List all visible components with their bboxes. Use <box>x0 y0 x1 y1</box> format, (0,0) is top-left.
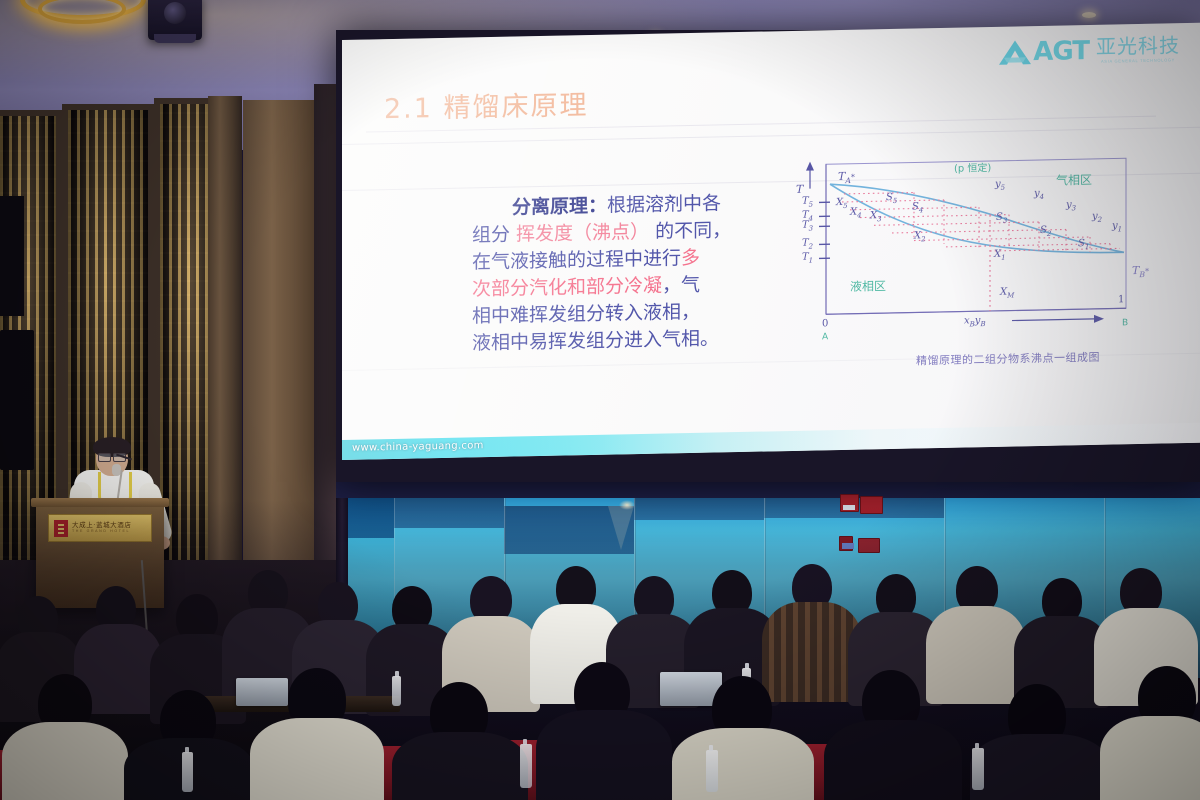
point-XM: XM <box>1000 287 1014 300</box>
audience-torso <box>392 732 528 800</box>
agt-wordmark: AGT <box>1033 38 1089 65</box>
audience-torso <box>1100 716 1200 800</box>
audience-torso <box>250 718 384 800</box>
body-line2a: 组分 <box>472 224 516 247</box>
laptop <box>236 678 288 706</box>
body-line1: 根据溶剂中各 <box>607 192 721 216</box>
audience-torso <box>672 728 814 800</box>
label-TB-star: TB* <box>1132 264 1149 280</box>
point-y2: y2 <box>1092 211 1102 224</box>
phase-diagram: T T5 T4 T3 T2 T1 TA* TB* (p 恒定) 气相区 液相区 … <box>794 151 1176 377</box>
body-line3-highlight: 多 <box>681 247 700 269</box>
x-endpoint-B: B <box>1122 318 1128 328</box>
point-S4: S4 <box>912 201 923 214</box>
footer-url: www.china-yaguang.com <box>352 440 484 454</box>
point-X2: X2 <box>914 230 926 243</box>
body-line4-highlight: 次部分汽化和部分冷凝 <box>472 275 662 301</box>
water-bottle <box>392 676 401 706</box>
water-bottle <box>520 744 532 788</box>
body-line2b: 的不同， <box>649 219 731 243</box>
point-X1: X1 <box>994 249 1006 262</box>
point-y4: y4 <box>1034 188 1044 201</box>
projection-screen: AGT 亚光科技 ASIA GENERAL TECHNOLOGY 2.1 精馏床… <box>342 23 1200 460</box>
ceiling-downlight <box>1082 12 1096 18</box>
wall-dark-panel <box>0 196 24 316</box>
slide-body-text: 分离原理：根据溶剂中各 组分 挥发度（沸点） 的不同， 在气液接触的过程中进行多… <box>472 189 782 357</box>
point-X3: X3 <box>870 210 882 223</box>
ytick-T5: T5 <box>802 196 813 209</box>
body-line2-highlight: 挥发度（沸点） <box>516 221 649 246</box>
conference-hall-photo: AGT 亚光科技 ASIA GENERAL TECHNOLOGY 2.1 精馏床… <box>0 0 1200 800</box>
ytick-T1: T1 <box>802 252 813 265</box>
region-vapor-label: 气相区 <box>1056 171 1092 189</box>
point-X5: X5 <box>836 197 848 210</box>
point-y5: y5 <box>995 179 1005 192</box>
body-line3a: 在气液接触的过程中进行 <box>472 247 681 273</box>
agt-tagline: ASIA GENERAL TECHNOLOGY <box>1096 57 1180 64</box>
point-X4: X4 <box>850 207 862 220</box>
xtick-1: 1 <box>1118 294 1124 305</box>
audience-torso <box>926 606 1026 704</box>
point-S5: S5 <box>886 192 897 205</box>
chandelier-light <box>14 0 142 38</box>
point-S1: S1 <box>1078 238 1089 251</box>
xtick-0: 0 <box>822 318 828 329</box>
water-bottle <box>972 748 984 790</box>
agt-chinese-name: 亚光科技 <box>1096 35 1180 57</box>
x-endpoint-A: A <box>822 332 828 342</box>
axis-label-T: T <box>796 183 803 196</box>
point-S3: S3 <box>996 212 1007 225</box>
point-y1: y1 <box>1112 220 1122 233</box>
label-TA-star: TA* <box>838 170 855 186</box>
audience-torso-plaid <box>762 602 862 702</box>
ytick-T3: T3 <box>802 220 813 233</box>
wall-dark-panel <box>0 330 34 470</box>
chart-condition-label: (p 恒定) <box>954 159 991 175</box>
region-liquid-label: 液相区 <box>850 277 886 295</box>
audience-torso <box>970 734 1110 800</box>
water-bottle <box>182 752 193 792</box>
audience-torso <box>2 722 128 800</box>
agt-logo: AGT 亚光科技 ASIA GENERAL TECHNOLOGY <box>998 35 1180 66</box>
body-line4b: ，气 <box>662 274 700 297</box>
ytick-T2: T2 <box>802 238 813 251</box>
audience-torso <box>536 710 672 800</box>
projector-lens-icon <box>164 2 186 24</box>
audience-torso <box>824 720 962 800</box>
audience <box>0 500 1200 800</box>
body-lead: 分离原理： <box>512 195 607 219</box>
water-bottle <box>706 750 718 792</box>
agt-mark-icon <box>998 39 1032 66</box>
point-y3: y3 <box>1066 199 1076 212</box>
slide-title: 2.1 精馏床原理 <box>384 83 589 126</box>
body-line6: 液相中易挥发组分进入气相。 <box>472 324 782 357</box>
ceiling-projector <box>148 0 202 40</box>
point-S2: S2 <box>1040 225 1051 238</box>
x-axis-label: xByB <box>964 315 986 328</box>
